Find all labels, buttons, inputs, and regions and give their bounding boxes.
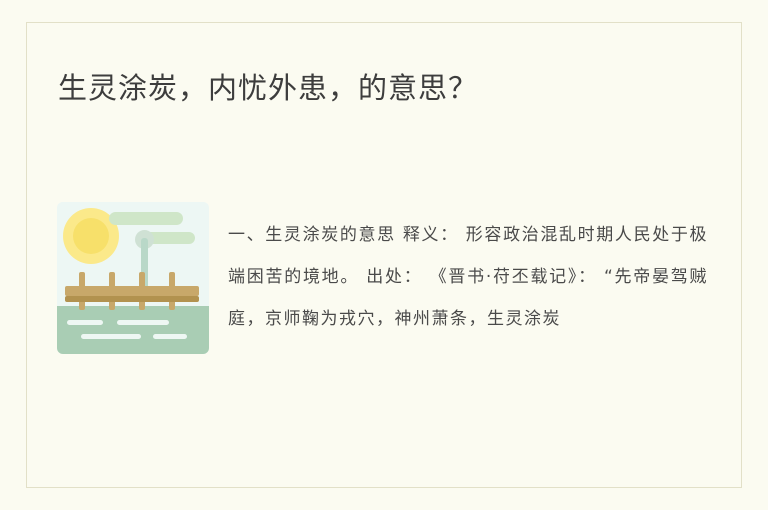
pier-deck-shadow-icon [65, 296, 199, 302]
answer-body-text: 一、生灵涂炭的意思 释义： 形容政治混乱时期人民处于极端困苦的境地。 出处： 《… [228, 214, 708, 340]
wave-icon [81, 334, 141, 339]
wave-icon [67, 320, 103, 325]
cloud-bar-icon [109, 212, 183, 225]
pier-deck-icon [65, 286, 199, 296]
document-page: 生灵涂炭，内忧外患，的意思？ 一、生灵涂炭的意思 释义： 形容政治混乱时期人民处… [0, 0, 768, 510]
sun-core-icon [73, 218, 109, 254]
water-area [57, 306, 209, 354]
pier-sunset-illustration [57, 202, 209, 354]
wave-icon [153, 334, 187, 339]
page-title: 生灵涂炭，内忧外患，的意思？ [58, 68, 708, 108]
wave-icon [117, 320, 169, 325]
